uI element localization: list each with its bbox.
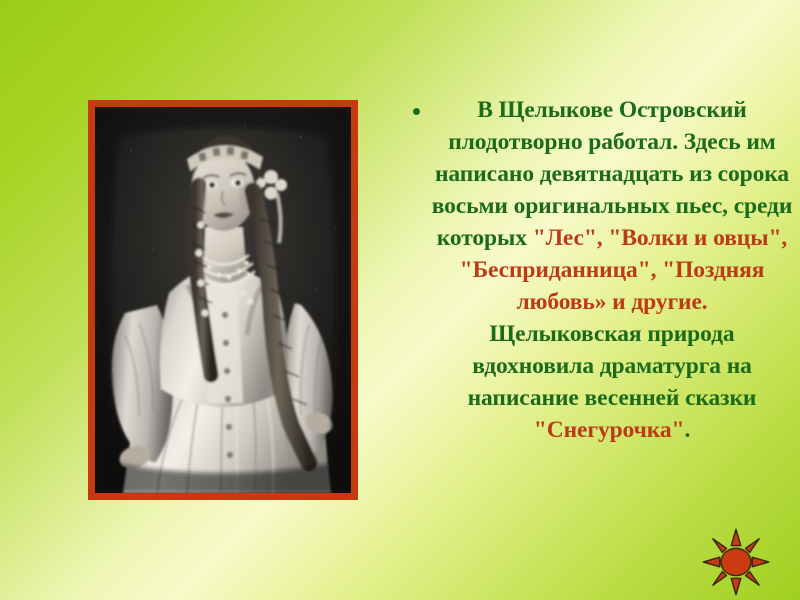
slide-text-block: В Щелыкове Островский плодотворно работа… [404, 94, 796, 446]
slide-paragraph: В Щелыкове Островский плодотворно работа… [404, 94, 796, 446]
paragraph-segment-3: Щелыковская природа вдохновила драматург… [468, 321, 757, 411]
paragraph-segment-4-snegurochka: "Снегурочка" [534, 417, 685, 443]
paragraph-segment-5: . [684, 417, 690, 443]
sun-icon [700, 528, 772, 596]
slide-canvas: В Щелыкове Островский плодотворно работа… [0, 0, 800, 600]
portrait-photo-image [95, 107, 351, 493]
portrait-photo-frame [88, 100, 358, 500]
bullet-point-icon [413, 108, 420, 115]
bullet-paragraph-row: В Щелыкове Островский плодотворно работа… [404, 94, 796, 446]
